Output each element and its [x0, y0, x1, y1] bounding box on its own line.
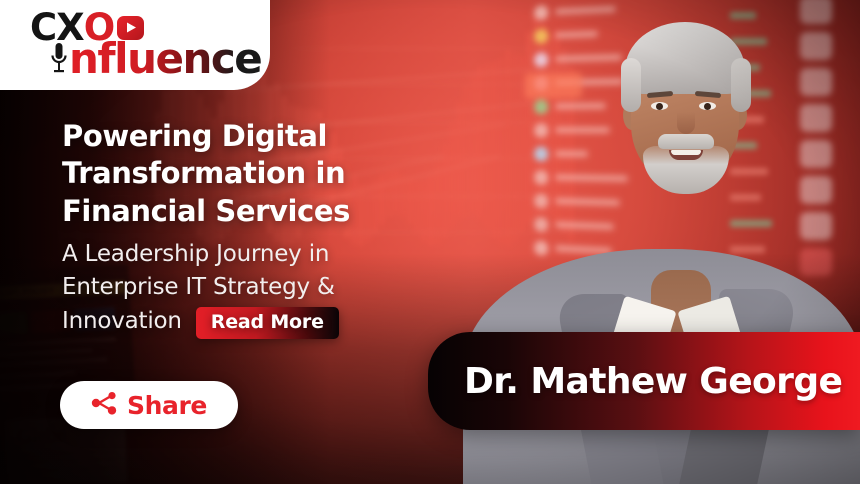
share-button-label: Share [127, 391, 207, 420]
logo-bottom-row: nfluence [50, 38, 261, 80]
subtitle: A Leadership Journey in Enterprise IT St… [62, 238, 402, 339]
microphone-icon [50, 39, 68, 79]
brand-logo[interactable]: CX O nfluence [0, 0, 270, 90]
logo-text-influence: nfluence [69, 38, 261, 80]
speaker-name: Dr. Mathew George [464, 361, 842, 402]
share-nodes-icon [91, 391, 118, 420]
share-button[interactable]: Share [60, 381, 238, 429]
promo-banner: CREDIT POLICY Glebe [0, 0, 860, 484]
page-title: Powering Digital Transformation in Finan… [62, 118, 492, 230]
speaker-name-banner: Dr. Mathew George [428, 332, 860, 430]
read-more-button[interactable]: Read More [196, 307, 339, 339]
